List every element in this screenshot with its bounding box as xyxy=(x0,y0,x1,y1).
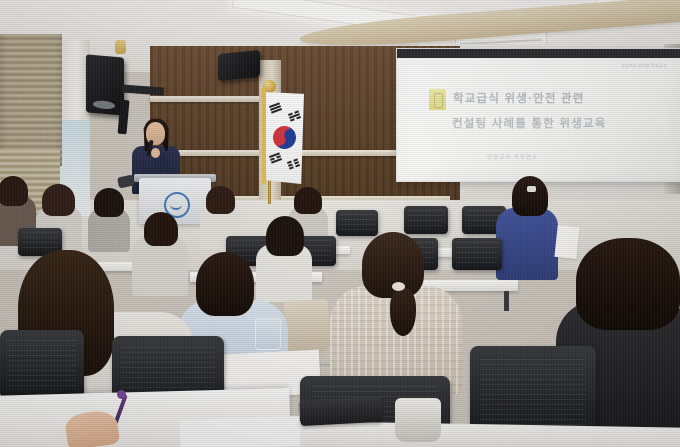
flag-finial xyxy=(263,80,276,93)
chair xyxy=(404,206,448,234)
trigram-geon-icon xyxy=(269,102,282,113)
trigram-gon-icon xyxy=(287,158,300,169)
korean-national-flag xyxy=(264,92,304,184)
slide-title-line-1: 학교급식 위생·안전 관련 xyxy=(453,90,585,106)
emergency-light-icon xyxy=(115,40,126,54)
slide-bullet-icon xyxy=(429,89,446,110)
wall-speaker xyxy=(218,50,260,81)
trigram-ri-icon xyxy=(269,152,282,163)
water-glass xyxy=(255,318,281,350)
hair-clip xyxy=(527,186,536,192)
ponytail xyxy=(390,288,416,336)
slide-header-note: 경상북도교육청 학교급식 xyxy=(547,63,667,69)
trigram-gam-icon xyxy=(288,110,301,121)
handout xyxy=(180,416,301,447)
handbag xyxy=(284,299,331,353)
slide-title-line-2: 컨설팅 사례를 통한 위생교육 xyxy=(452,115,607,131)
slide-subtitle: 영양교사 직무연수 xyxy=(487,153,538,161)
chair xyxy=(452,238,502,270)
hair-tie xyxy=(392,282,405,291)
window-blinds xyxy=(0,34,62,166)
lecture-hall-photo: 경상북도교육청 학교급식 학교급식 위생·안전 관련 컨설팅 사례를 통한 위생… xyxy=(0,0,680,447)
chair xyxy=(336,210,378,236)
taeguk-symbol xyxy=(269,122,300,153)
screen-top-bar xyxy=(397,49,680,58)
speaker-bracket xyxy=(122,85,164,96)
desk-leg xyxy=(504,291,509,311)
wall-accent-strip xyxy=(150,96,262,102)
handout xyxy=(554,225,579,259)
projection-screen: 경상북도교육청 학교급식 학교급식 위생·안전 관련 컨설팅 사례를 통한 위생… xyxy=(396,48,680,182)
presenter-hand xyxy=(151,148,160,158)
wall-speaker xyxy=(86,54,124,115)
paper-cup xyxy=(395,398,441,442)
speaker-mount-arm xyxy=(118,100,130,135)
pen-cap xyxy=(117,390,126,399)
chair-foreground xyxy=(0,330,84,400)
smartphone xyxy=(299,396,382,426)
